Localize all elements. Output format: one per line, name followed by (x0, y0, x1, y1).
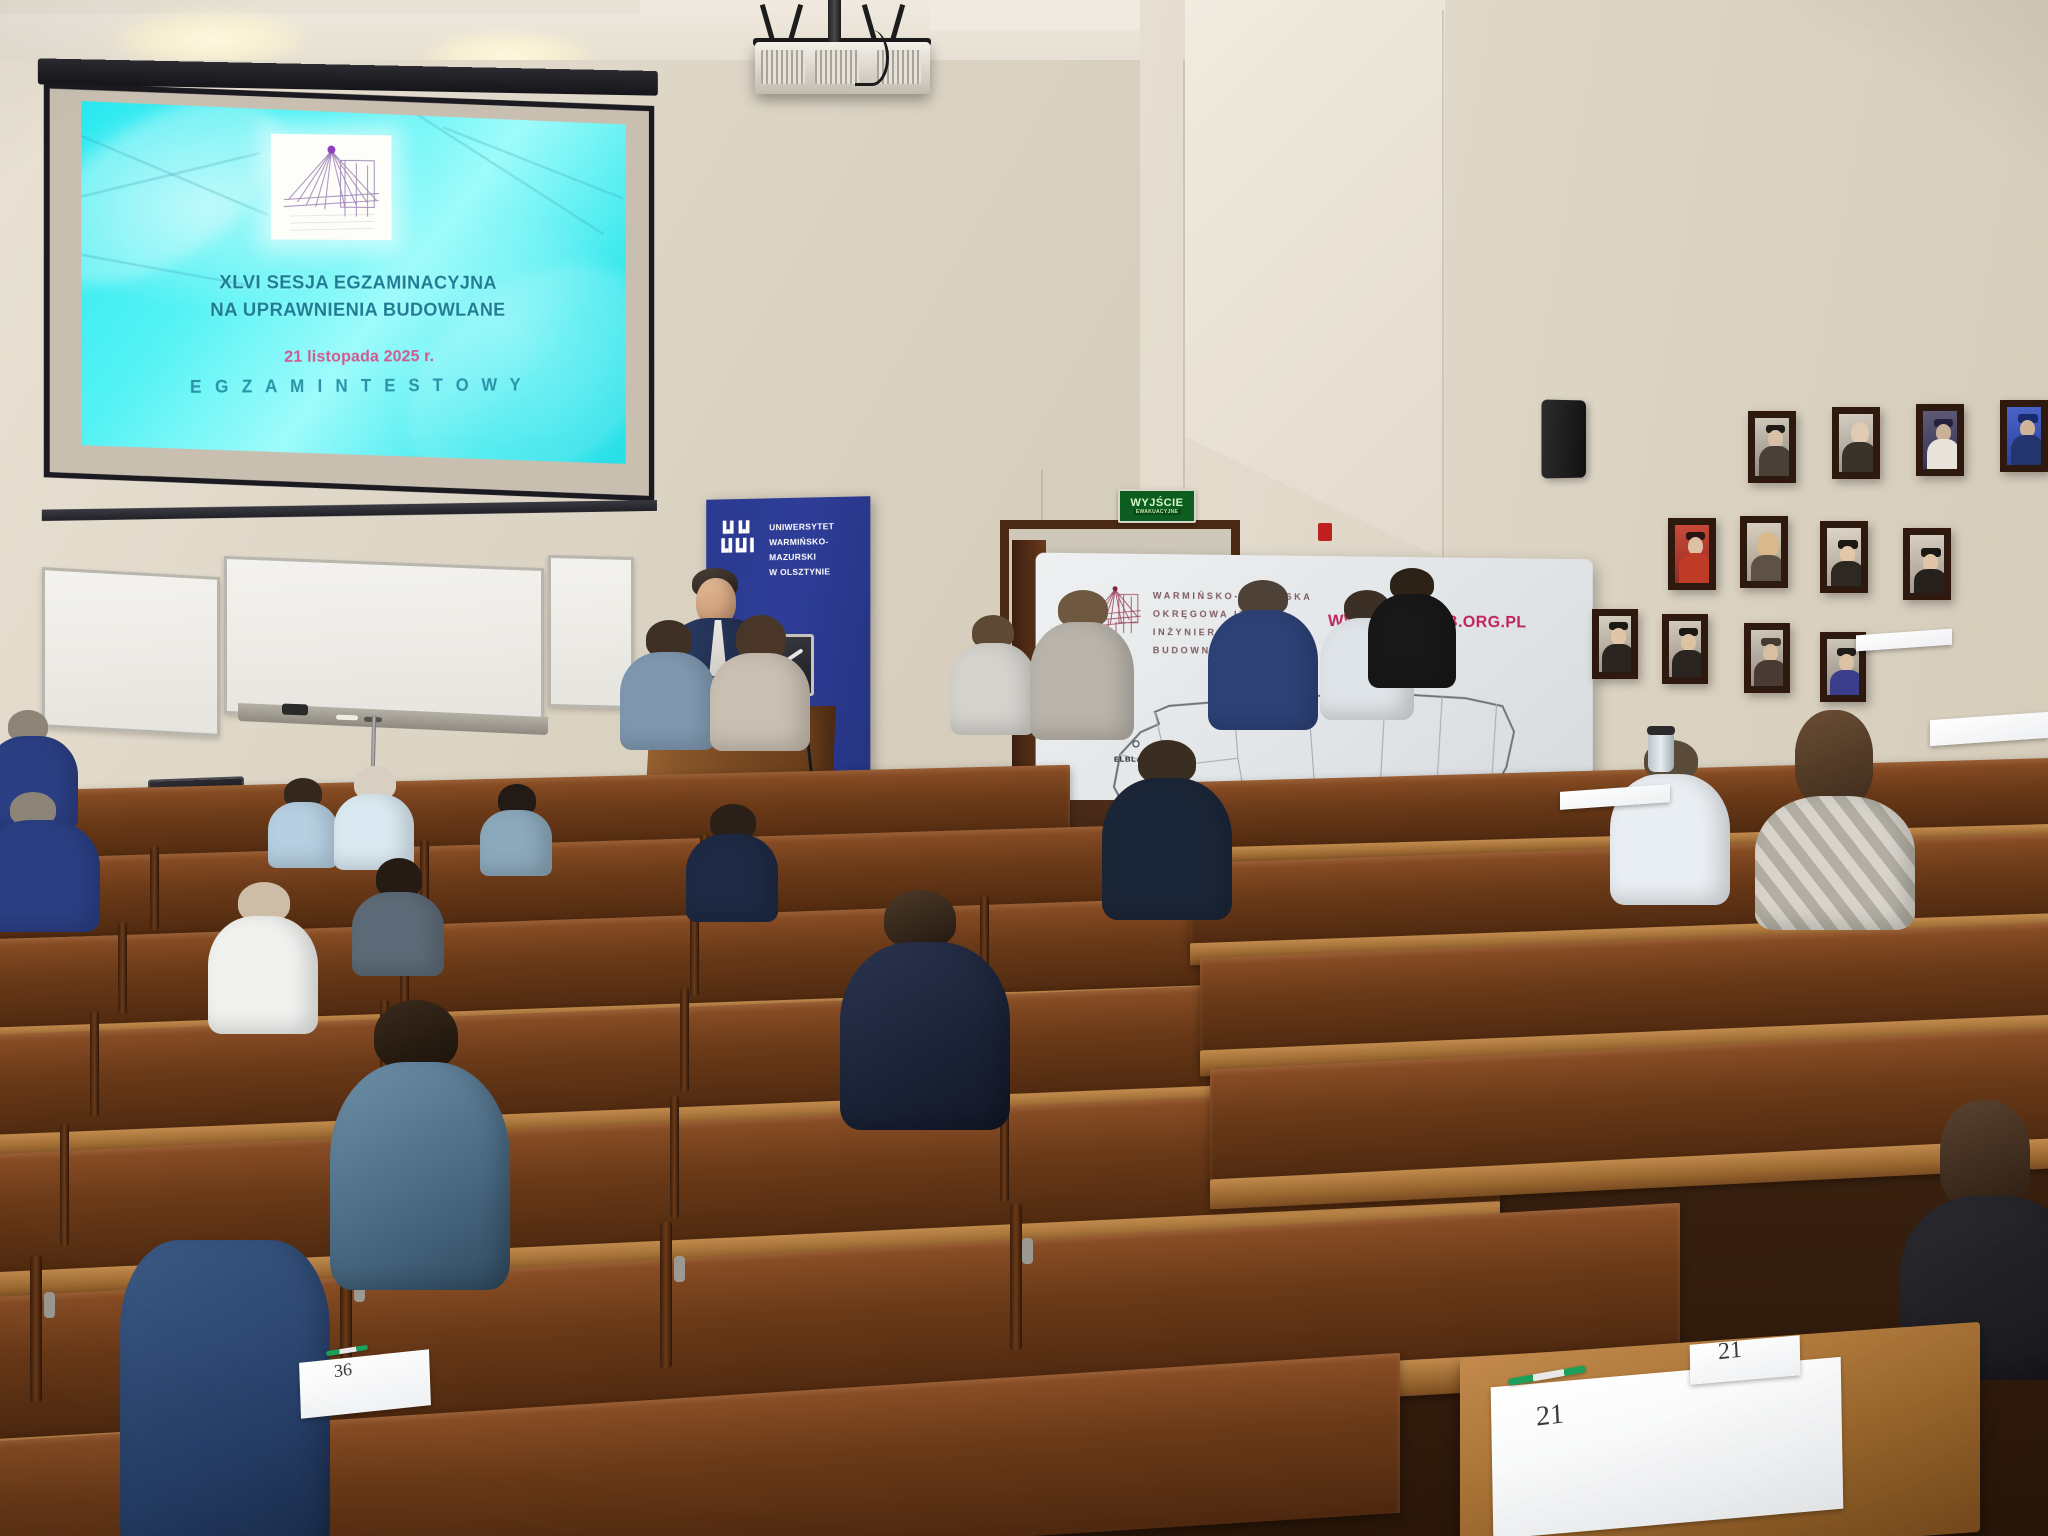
attendee-torso (0, 820, 100, 932)
attendee (352, 858, 444, 976)
exam-card-number: 21 (1717, 1337, 1742, 1367)
ceiling-beam-1 (0, 0, 640, 14)
seat-hinge (1022, 1238, 1033, 1264)
bench-divider (670, 1096, 679, 1218)
portrait-frame (1592, 609, 1638, 679)
portrait-frame (1903, 528, 1951, 600)
attendee-torso (950, 643, 1036, 735)
portrait-robe (1842, 442, 1873, 472)
portrait-image (1827, 639, 1859, 695)
eraser (282, 704, 308, 716)
portrait-robe (1602, 644, 1631, 672)
attendee (268, 778, 338, 868)
lecture-hall-photo: XLVI SESJA EGZAMINACYJNA NA UPRAWNIENIA … (0, 0, 2048, 1536)
portrait-frame (1916, 404, 1964, 476)
attendee-foreground (840, 890, 1010, 1130)
portrait-face (1763, 644, 1778, 661)
ceiling-projector (735, 0, 935, 110)
attendee (0, 792, 100, 932)
attendee-torso (1102, 778, 1232, 920)
bench-divider (30, 1256, 42, 1403)
projector-body (755, 42, 930, 94)
portrait-image (1675, 525, 1709, 583)
seat-hinge (674, 1256, 685, 1282)
portrait-robe (1751, 555, 1781, 581)
uwm-line2: WARMIŃSKO-MAZURSKI (769, 534, 864, 565)
bench-divider (90, 1012, 99, 1116)
tumbler-lid (1647, 726, 1675, 735)
portrait-robe (1831, 561, 1861, 586)
slide-date: 21 listopada 2025 r. (81, 346, 625, 368)
attendee-hair-long (1795, 710, 1873, 806)
emergency-exit-sign: WYJŚCIE EWAKUACYJNE (1118, 489, 1196, 523)
projector-bracket-left (760, 4, 775, 42)
attendee-foreground (330, 1000, 510, 1290)
projection-screen: XLVI SESJA EGZAMINACYJNA NA UPRAWNIENIA … (20, 58, 660, 558)
attendee (1755, 710, 1915, 930)
portrait-image (1669, 621, 1701, 677)
exit-sign-sublabel: EWAKUACYJNE (1133, 509, 1181, 515)
portrait-frame (1820, 521, 1868, 593)
screen-bottom-weight-bar (42, 499, 657, 521)
attendee-torso (1368, 594, 1456, 688)
portrait-frame (1740, 516, 1788, 588)
attendee-torso (1208, 610, 1318, 730)
attendee-torso (710, 653, 810, 751)
portrait-image (1910, 535, 1944, 593)
uwm-logo-icon (720, 518, 763, 561)
auditorium-seating: 21 21 36 (0, 800, 2048, 1536)
wall-loudspeaker (1541, 399, 1586, 478)
portrait-image (1599, 616, 1631, 672)
portrait-face (1681, 634, 1696, 651)
travel-tumbler[interactable] (1648, 730, 1674, 772)
projector-vent-mid (815, 50, 859, 84)
attendee-torso (480, 810, 552, 876)
portrait-face (1839, 654, 1854, 671)
whiteboard-center (224, 556, 544, 726)
portrait-frame (1744, 623, 1790, 693)
slide-title-line2: NA UPRAWNIENIA BUDOWLANE (81, 296, 625, 324)
attendee (480, 784, 552, 876)
portrait-frame (1662, 614, 1708, 684)
projector-ceiling-pole (828, 0, 841, 48)
attendee (1208, 580, 1318, 730)
attendee-torso (208, 916, 318, 1034)
wam-logo-icon (271, 134, 392, 240)
attendee-hair (374, 1000, 458, 1070)
attendee (620, 620, 716, 750)
attendee-torso (330, 1062, 510, 1290)
portrait-frame (1748, 411, 1796, 483)
projector-bracket-left2 (788, 4, 803, 42)
projector-bracket-right2 (890, 4, 905, 42)
portrait-frame (2000, 400, 2048, 472)
portrait-image (1755, 418, 1789, 476)
attendee-torso (1030, 622, 1134, 740)
wall-seam-2 (1442, 10, 1444, 650)
attendee-torso (1755, 796, 1915, 930)
portrait-robe (1759, 446, 1789, 476)
attendee (1102, 740, 1232, 920)
projector-cable (855, 30, 889, 86)
attendee (686, 804, 778, 922)
attendee (334, 766, 414, 870)
attendee-hair-long (1940, 1100, 2030, 1210)
attendee (1368, 568, 1456, 688)
slide-title-line1: XLVI SESJA EGZAMINACYJNA (81, 268, 625, 297)
attendee-foreground (120, 1240, 330, 1536)
attendee-torso (620, 652, 716, 750)
attendee-legs (120, 1240, 330, 1536)
attendee-torso (268, 802, 338, 868)
portrait-image (2007, 407, 2041, 465)
marker-white (336, 715, 358, 721)
slide-title: XLVI SESJA EGZAMINACYJNA NA UPRAWNIENIA … (81, 268, 625, 324)
portrait-robe (1672, 650, 1701, 677)
attendee (1030, 590, 1134, 740)
portrait-robe (1914, 569, 1944, 593)
portrait-face (1611, 628, 1626, 645)
attendee (950, 615, 1036, 735)
bench-divider (118, 922, 127, 1014)
attendee-hair (884, 890, 956, 948)
slide-graphic-line-3 (415, 113, 604, 235)
bench-divider (150, 846, 159, 930)
uwm-line1: UNIWERSYTET (769, 519, 864, 536)
exam-sheet-number: 36 (333, 1359, 352, 1382)
seat-hinge (44, 1292, 55, 1318)
portrait-image (1747, 523, 1781, 581)
bench-divider (1010, 1204, 1022, 1351)
fire-alarm (1318, 523, 1332, 541)
portrait-frame (1832, 407, 1880, 479)
bench-divider (660, 1222, 672, 1369)
exam-sheet-number: 21 (1535, 1398, 1565, 1433)
attendee (710, 615, 810, 751)
slide-subtitle: E G Z A M I N T E S T O W Y (81, 375, 625, 399)
projector-vent-left (761, 50, 805, 84)
presentation-slide: XLVI SESJA EGZAMINACYJNA NA UPRAWNIENIA … (81, 101, 625, 471)
portrait-image (1923, 411, 1957, 469)
portrait-robe (1679, 553, 1709, 583)
portrait-robe (2011, 435, 2041, 465)
portrait-robe (1754, 660, 1783, 686)
portrait-face (1851, 422, 1869, 444)
attendee-torso (352, 892, 444, 976)
attendee-torso (840, 942, 1010, 1130)
portrait-image (1827, 528, 1861, 586)
attendee-torso (686, 834, 778, 922)
bench-divider (60, 1124, 69, 1246)
portrait-frame (1668, 518, 1716, 590)
portrait-image (1751, 630, 1783, 686)
portrait-robe (1927, 439, 1957, 469)
bench-divider (680, 988, 689, 1092)
exam-answer-sheet (1491, 1357, 1844, 1536)
portrait-image (1839, 414, 1873, 472)
portrait-robe (1830, 670, 1859, 695)
attendee (208, 882, 318, 1034)
exit-sign-label: WYJŚCIE (1130, 497, 1183, 509)
